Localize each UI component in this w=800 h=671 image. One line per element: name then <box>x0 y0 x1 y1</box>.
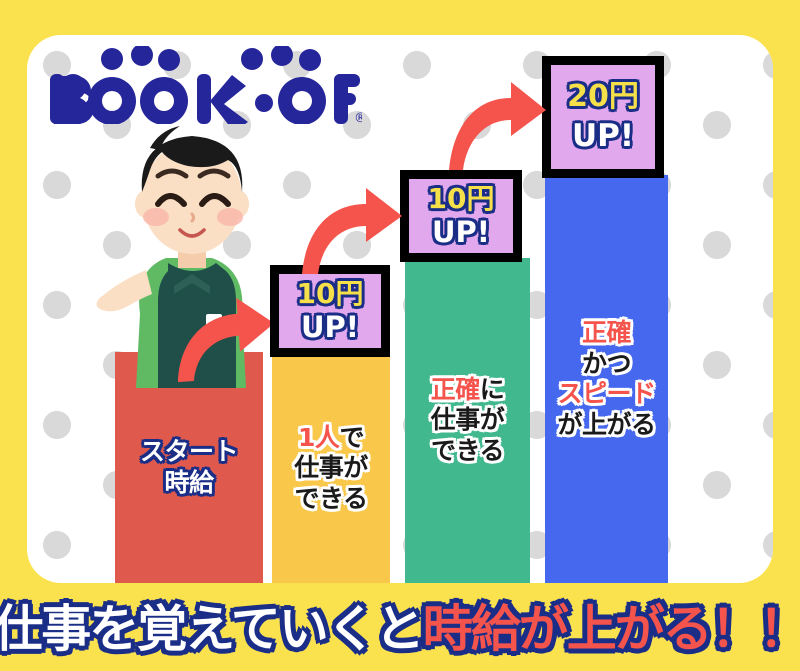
bookoff-logo: ® <box>42 46 362 124</box>
bar-2-label: 1人で 仕事が できる <box>294 423 368 515</box>
bar-4-line-4: が上がる <box>557 410 655 441</box>
bar-3-line-1-red: 正確 <box>431 375 480 404</box>
bar-3-line-1: 正確に <box>431 375 505 406</box>
bar-2-line-1-red: 1人 <box>298 423 339 452</box>
bar-2-line-1-blk: で <box>339 423 364 452</box>
bar-3-line-3: できる <box>431 436 505 467</box>
bar-accurate-and-fast: 正確 かつ スピード が上がる <box>545 175 668 583</box>
bar-3-label: 正確に 仕事が できる <box>431 375 505 467</box>
badge-1-up: UP! <box>301 313 359 342</box>
banner-text-white: 仕事を覚えていくと <box>0 600 423 658</box>
badge-20yen-up: 20円 UP! <box>542 56 664 178</box>
badge-1-amount: 10円 <box>297 280 364 308</box>
arrow-icon-person <box>162 291 280 385</box>
bar-4-label: 正確 かつ スピード が上がる <box>557 318 655 440</box>
arrow-icon-step-1 <box>296 186 404 276</box>
bar-3-line-1-blk: に <box>480 375 505 404</box>
badge-2-amount: 10円 <box>428 185 495 213</box>
badge-2-up: UP! <box>432 218 490 247</box>
badge-10yen-up-second: 10円 UP! <box>400 170 522 262</box>
bar-2-line-1: 1人で <box>294 423 368 454</box>
bar-3-line-2: 仕事が <box>431 405 505 436</box>
bottom-banner: 仕事を覚えていくと時給が上がる！！ <box>0 586 800 671</box>
badge-3-up: UP! <box>572 121 634 152</box>
arrow-icon-step-2 <box>443 80 548 172</box>
badge-10yen-up-first: 10円 UP! <box>270 265 390 357</box>
bar-1-label: スタート 時給 <box>140 437 238 498</box>
bar-2-line-3: できる <box>294 484 368 515</box>
bar-1-line-1: スタート <box>140 437 238 468</box>
bar-1-line-2: 時給 <box>140 468 238 499</box>
banner-text: 仕事を覚えていくと時給が上がる！！ <box>0 604 800 654</box>
bar-solo-work: 1人で 仕事が できる <box>272 354 390 583</box>
bar-4-line-3: スピード <box>557 379 655 410</box>
badge-3-amount: 20円 <box>567 82 639 112</box>
banner-text-red: 時給が上がる！！ <box>423 600 800 658</box>
bar-4-line-1: 正確 <box>557 318 655 349</box>
bar-accurate-work: 正確に 仕事が できる <box>405 258 530 583</box>
poster-root: ® <box>0 0 800 671</box>
bar-4-line-2: かつ <box>557 349 655 380</box>
registered-mark: ® <box>354 111 362 124</box>
bar-2-line-2: 仕事が <box>294 453 368 484</box>
